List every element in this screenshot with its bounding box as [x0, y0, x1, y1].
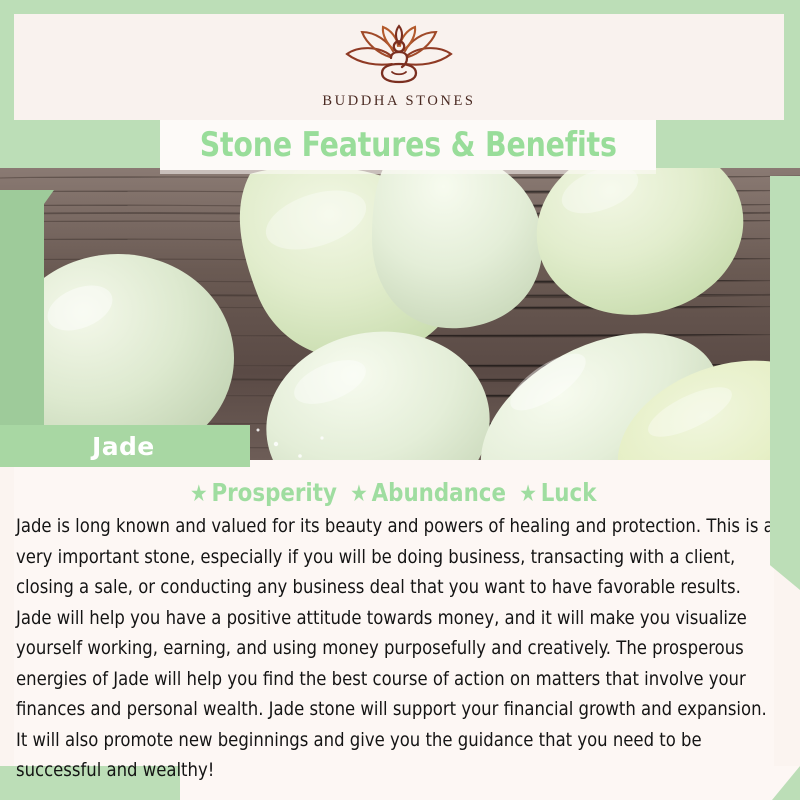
- benefit-item-abundance: ★Abundance: [350, 478, 519, 507]
- benefit-label-abundance: Abundance: [372, 478, 506, 507]
- benefit-item-prosperity: ★Prosperity: [190, 478, 350, 507]
- benefit-keywords-line: ★Prosperity★Abundance★Luck: [190, 478, 610, 507]
- brand-logo: BUDDHA STONES: [14, 14, 784, 120]
- section-title-band: Stone Features & Benefits: [160, 120, 656, 170]
- stone-name-banner: Jade: [0, 425, 250, 467]
- star-icon: ★: [350, 481, 368, 507]
- page-title: Stone Features & Benefits: [199, 125, 616, 165]
- brand-header: BUDDHA STONES: [14, 14, 784, 120]
- stone-name-label: Jade: [92, 432, 155, 461]
- frame-top-accent: [0, 0, 800, 14]
- star-icon: ★: [519, 481, 537, 507]
- benefit-item-luck: ★Luck: [519, 478, 609, 507]
- right-accent-band: [770, 176, 800, 590]
- star-icon: ★: [190, 481, 208, 507]
- poster-root: BUDDHA STONES: [0, 0, 800, 800]
- benefit-label-prosperity: Prosperity: [212, 478, 337, 507]
- stone-description-text: Jade is long known and valued for its be…: [16, 512, 776, 787]
- jade-tumbled-stones-photo: [0, 168, 800, 460]
- lotus-meditation-icon: [334, 24, 464, 91]
- benefit-keywords-row: ★Prosperity★Abundance★Luck: [0, 478, 800, 507]
- content-panel: ★Prosperity★Abundance★Luck Jade is long …: [0, 460, 800, 800]
- brand-name: BUDDHA STONES: [322, 93, 475, 110]
- left-accent-band: [0, 190, 44, 458]
- benefit-label-luck: Luck: [541, 478, 597, 507]
